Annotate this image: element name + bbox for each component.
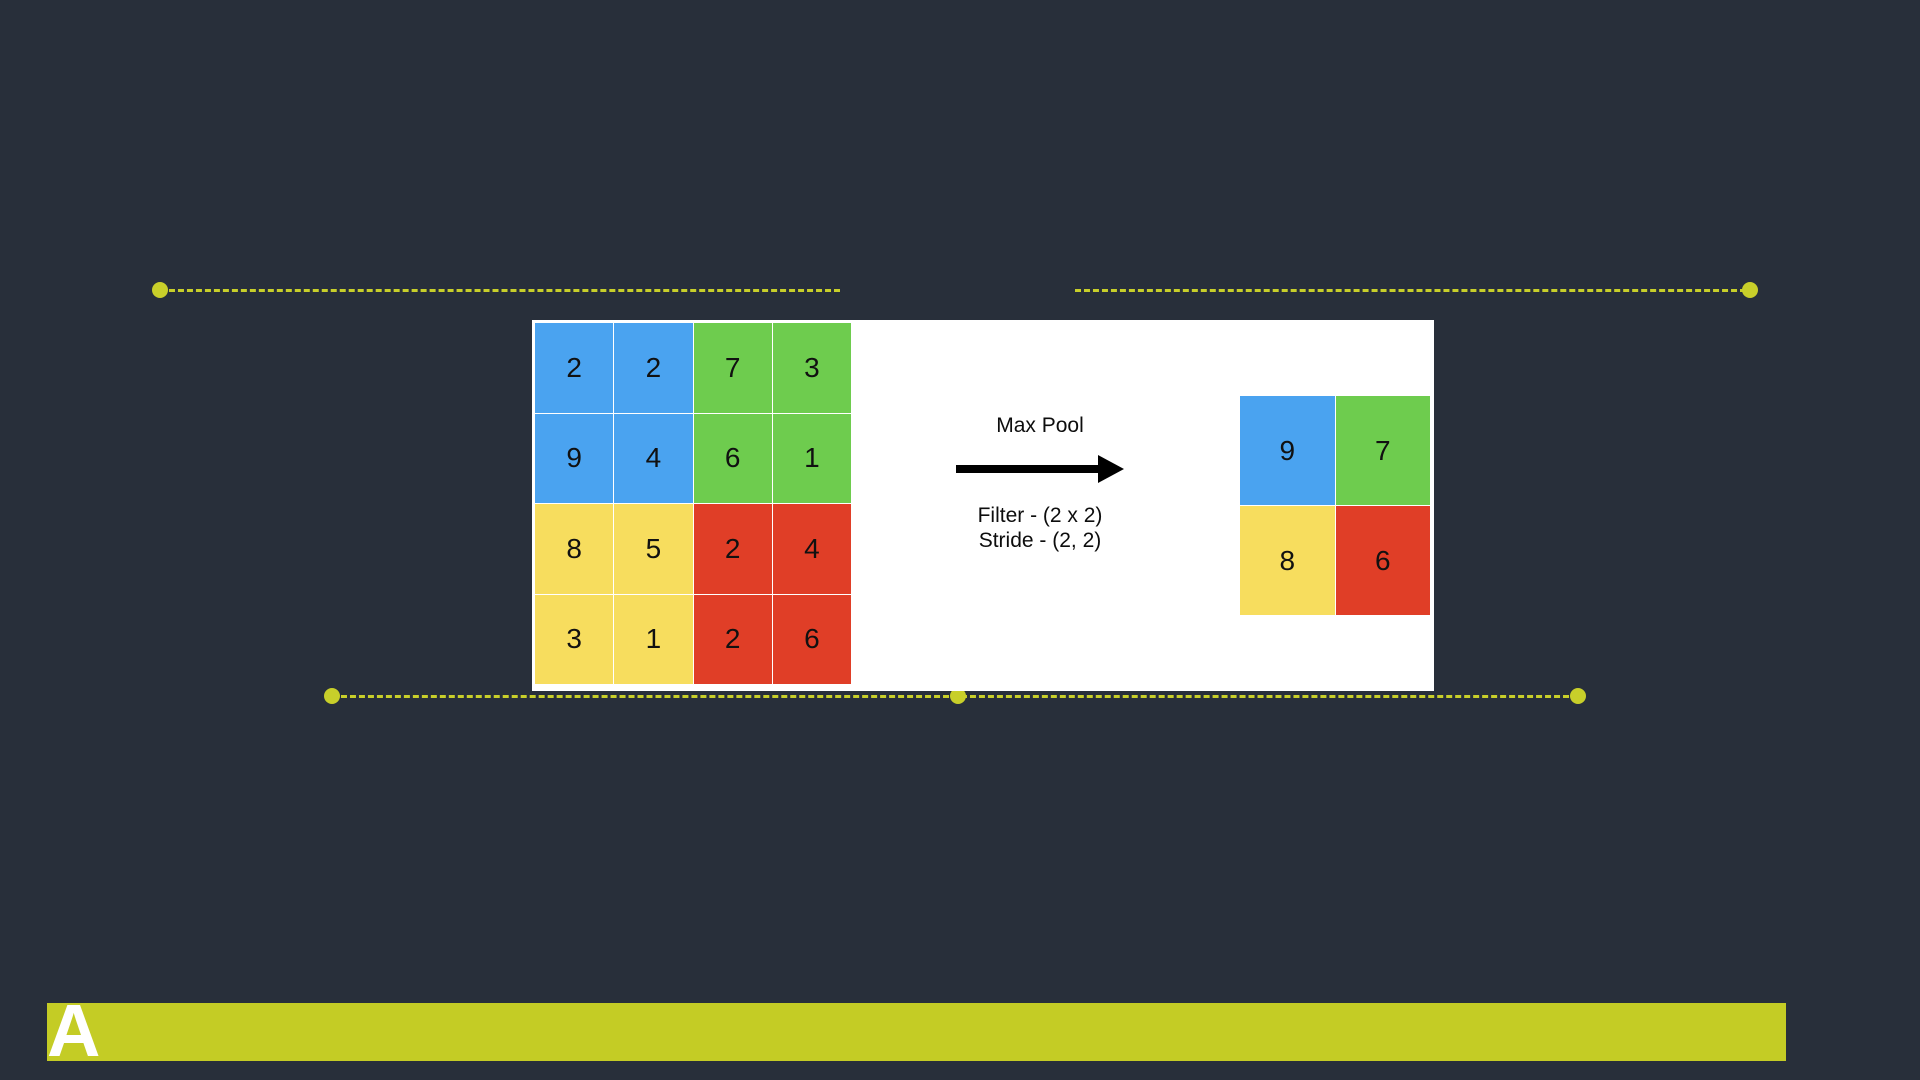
matrix-cell: 7 (1336, 396, 1431, 505)
matrix-cell: 1 (773, 414, 851, 504)
matrix-cell: 6 (773, 595, 851, 685)
matrix-cell: 2 (614, 323, 692, 413)
guide-handle-top-left[interactable] (152, 282, 168, 298)
matrix-cell: 4 (773, 504, 851, 594)
arrow-head (1098, 455, 1124, 483)
matrix-cell: 2 (535, 323, 613, 413)
matrix-cell: 7 (694, 323, 772, 413)
brand-logo: A (47, 997, 137, 1065)
stride-parameter-label: Stride - (2, 2) (920, 529, 1160, 554)
matrix-cell: 8 (1240, 506, 1335, 615)
transform-arrow-icon (920, 454, 1160, 484)
matrix-cell: 2 (694, 504, 772, 594)
slide-canvas: 2 2 7 3 9 4 6 1 8 5 2 4 3 1 2 6 Max Pool… (0, 0, 1920, 1080)
guide-handle-bottom-right[interactable] (1570, 688, 1586, 704)
matrix-cell: 6 (694, 414, 772, 504)
pooled-feature-map-grid: 9 7 8 6 (1240, 396, 1430, 615)
matrix-cell: 3 (773, 323, 851, 413)
top-right-guide-line[interactable] (1075, 289, 1755, 292)
matrix-cell: 1 (614, 595, 692, 685)
arrow-shaft (956, 465, 1106, 473)
bottom-banner (47, 1003, 1786, 1061)
filter-parameter-label: Filter - (2 x 2) (920, 504, 1160, 529)
matrix-cell: 2 (694, 595, 772, 685)
top-left-guide-line[interactable] (160, 289, 840, 292)
operation-title: Max Pool (920, 415, 1160, 436)
matrix-cell: 9 (1240, 396, 1335, 505)
input-feature-map-grid: 2 2 7 3 9 4 6 1 8 5 2 4 3 1 2 6 (535, 323, 851, 684)
guide-handle-bottom-left[interactable] (324, 688, 340, 704)
matrix-cell: 8 (535, 504, 613, 594)
matrix-cell: 5 (614, 504, 692, 594)
matrix-cell: 9 (535, 414, 613, 504)
guide-handle-top-right[interactable] (1742, 282, 1758, 298)
operation-annotation: Max Pool Filter - (2 x 2) Stride - (2, 2… (920, 415, 1160, 554)
matrix-cell: 4 (614, 414, 692, 504)
matrix-cell: 6 (1336, 506, 1431, 615)
matrix-cell: 3 (535, 595, 613, 685)
